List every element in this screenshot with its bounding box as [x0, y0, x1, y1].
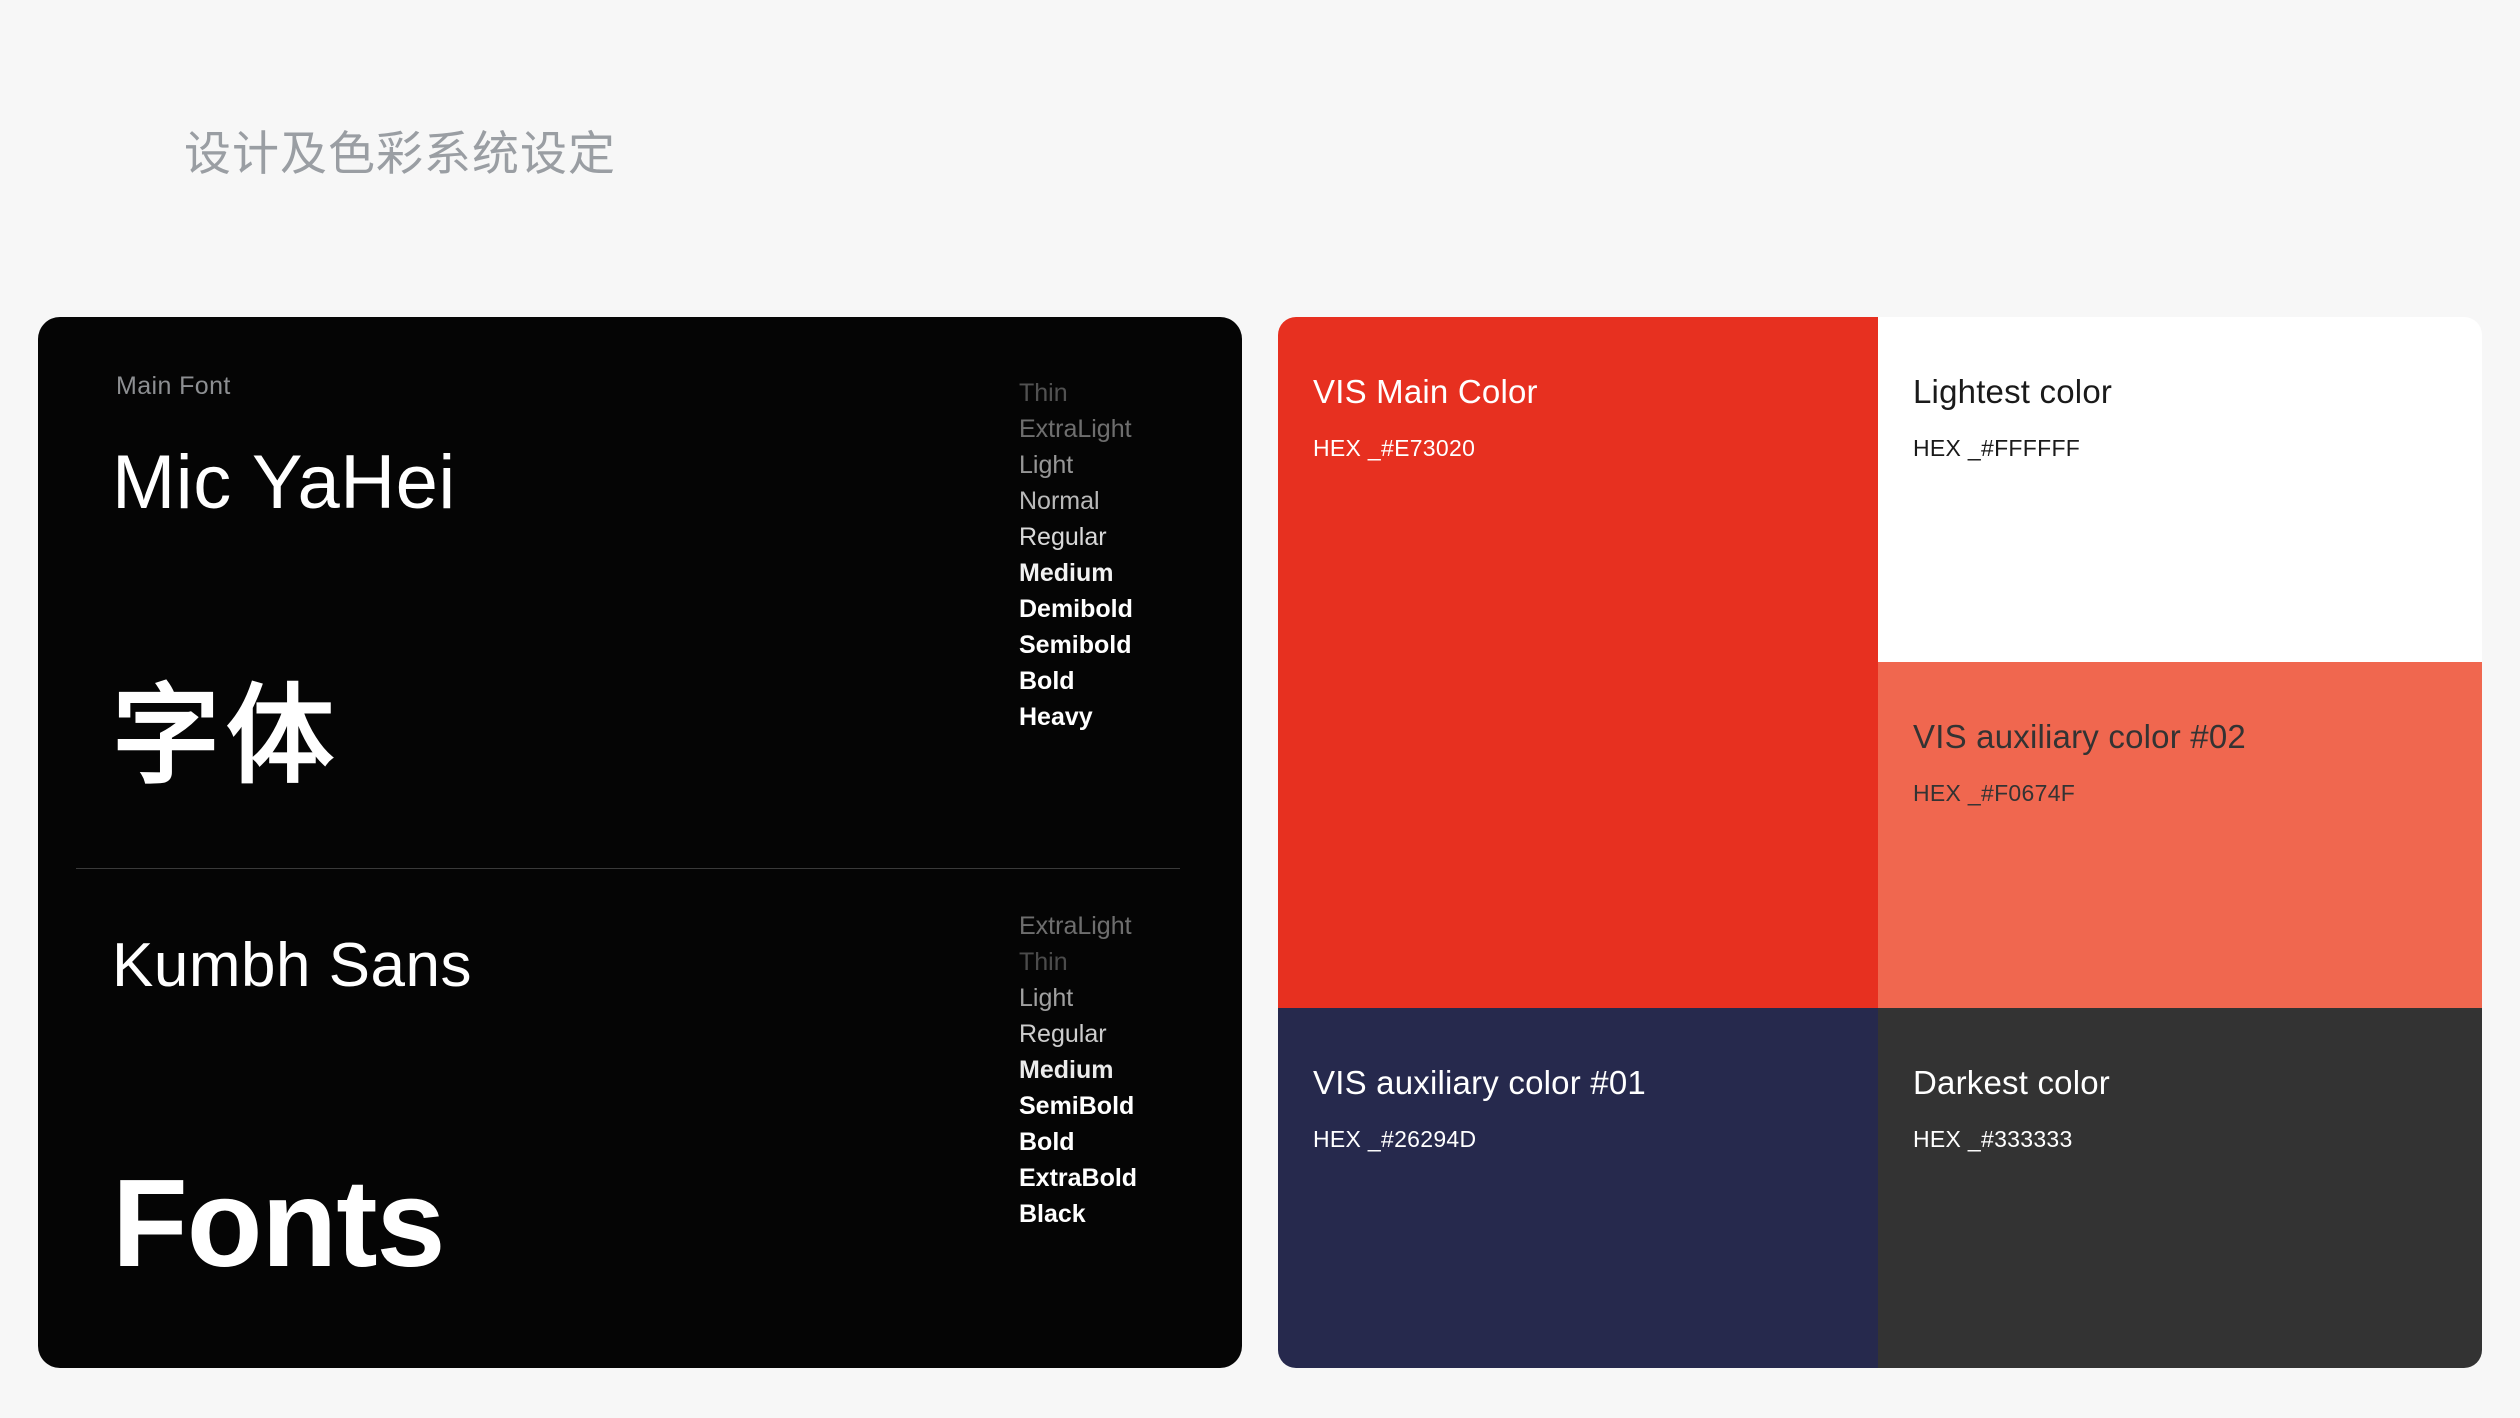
weight-item: Light [1019, 451, 1133, 479]
swatch-title: VIS Main Color [1313, 372, 1878, 412]
swatch-title: Lightest color [1913, 372, 2482, 412]
panel-divider [76, 868, 1180, 869]
secondary-font-name-latin: Kumbh Sans [112, 930, 472, 1001]
color-swatch-lightest[interactable]: Lightest colorHEX _#FFFFFF [1878, 317, 2482, 662]
weight-item: Thin [1019, 379, 1133, 407]
weight-item: Regular [1019, 1020, 1137, 1048]
weight-item: Bold [1019, 667, 1133, 695]
swatch-hex-label: HEX _#333333 [1913, 1126, 2482, 1153]
swatch-hex-label: HEX _#FFFFFF [1913, 435, 2482, 462]
weight-item: ExtraLight [1019, 415, 1133, 443]
page-title: 设计及色彩系统设定 [184, 128, 616, 180]
swatch-title: VIS auxiliary color #01 [1313, 1063, 1878, 1103]
primary-font-name-cjk: 字体 [112, 682, 340, 790]
swatch-hex-label: HEX _#26294D [1313, 1126, 1878, 1153]
swatch-hex-label: HEX _#F0674F [1913, 780, 2482, 807]
swatch-title: Darkest color [1913, 1063, 2482, 1103]
weight-item: ExtraLight [1019, 912, 1137, 940]
weight-item: Normal [1019, 487, 1133, 515]
swatch-title: VIS auxiliary color #02 [1913, 717, 2482, 757]
secondary-weight-list: ExtraLightThinLightRegularMediumSemiBold… [1019, 912, 1137, 1228]
main-font-label: Main Font [116, 372, 231, 401]
weight-item: Medium [1019, 559, 1133, 587]
weight-item: SemiBold [1019, 1092, 1137, 1120]
weight-item: Heavy [1019, 703, 1133, 731]
weight-item: Light [1019, 984, 1137, 1012]
font-panel: Main Font Mic YaHei 字体 ThinExtraLightLig… [38, 317, 1242, 1368]
color-swatch-darkest[interactable]: Darkest colorHEX _#333333 [1878, 1008, 2482, 1368]
weight-item: Demibold [1019, 595, 1133, 623]
weight-item: Semibold [1019, 631, 1133, 659]
swatch-hex-label: HEX _#E73020 [1313, 435, 1878, 462]
primary-weight-list: ThinExtraLightLightNormalRegularMediumDe… [1019, 379, 1133, 731]
weight-item: ExtraBold [1019, 1164, 1137, 1192]
color-swatch-aux01[interactable]: VIS auxiliary color #01HEX _#26294D [1278, 1008, 1878, 1368]
primary-font-name-latin: Mic YaHei [112, 439, 456, 526]
color-swatch-aux02[interactable]: VIS auxiliary color #02HEX _#F0674F [1878, 662, 2482, 1008]
design-system-board: 设计及色彩系统设定 Main Font Mic YaHei 字体 ThinExt… [0, 0, 2520, 1418]
color-swatch-main[interactable]: VIS Main ColorHEX _#E73020 [1278, 317, 1878, 1008]
fonts-heading: Fonts [112, 1162, 445, 1286]
weight-item: Medium [1019, 1056, 1137, 1084]
weight-item: Thin [1019, 948, 1137, 976]
weight-item: Regular [1019, 523, 1133, 551]
weight-item: Bold [1019, 1128, 1137, 1156]
color-panel: VIS Main ColorHEX _#E73020 Lightest colo… [1278, 317, 2482, 1368]
weight-item: Black [1019, 1200, 1137, 1228]
